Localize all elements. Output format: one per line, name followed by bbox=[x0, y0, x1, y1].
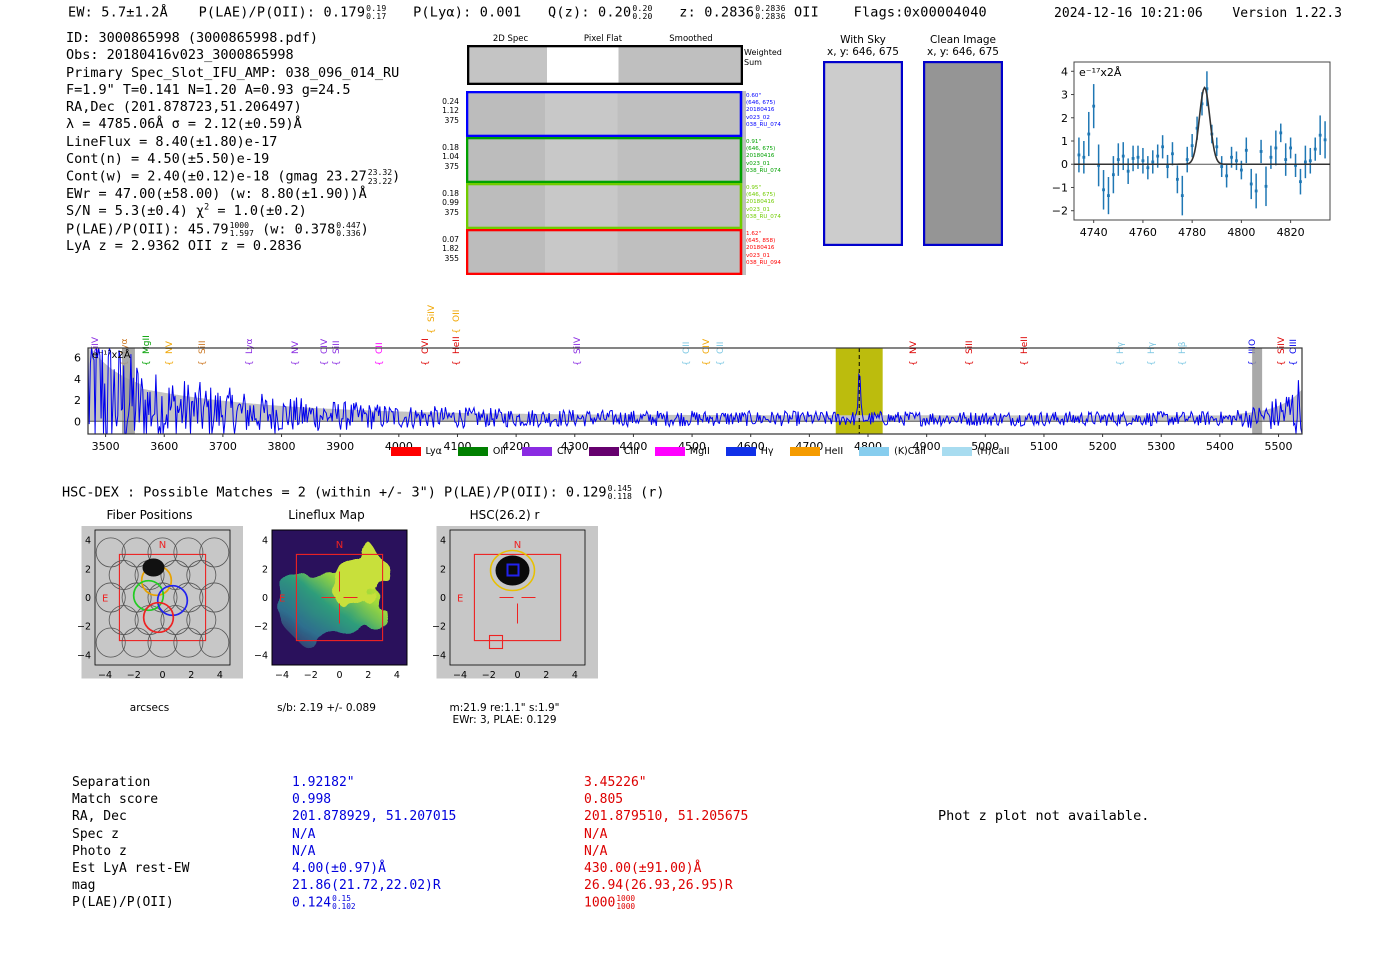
svg-text:2: 2 bbox=[85, 564, 91, 575]
match-row-label: mag bbox=[72, 878, 290, 893]
spec2d-meta-value: 20180416 bbox=[746, 199, 794, 206]
match-value-red: 430.00(±91.00)Å bbox=[584, 861, 748, 876]
spec2d-row-meta-labels: 0.95"(646, 675)20180416v023_01038_RU_074 bbox=[746, 185, 794, 221]
svg-text:N: N bbox=[336, 540, 343, 551]
spec2d-meta-value: v023_01 bbox=[746, 161, 794, 168]
cutout-title: With Sky bbox=[818, 34, 908, 46]
spec2d-meta-value: 20180416 bbox=[746, 245, 794, 252]
header-qz-lo: 0.20 bbox=[632, 12, 652, 20]
header-qz-value: 0.20 bbox=[598, 4, 631, 20]
svg-text:4740: 4740 bbox=[1080, 226, 1108, 239]
match-value-red: 26.94(26.93,26.95)R bbox=[584, 878, 748, 893]
info-cont-n: Cont(n) = 4.50(±5.50)e-19 bbox=[66, 151, 400, 168]
cutout-panel: Clean Imagex, y: 646, 675 bbox=[918, 34, 1008, 246]
legend-item: MgII bbox=[655, 446, 710, 457]
spec2d-meta-value: 0.91" bbox=[746, 139, 794, 146]
svg-text:2: 2 bbox=[1061, 112, 1068, 125]
svg-text:−4: −4 bbox=[453, 670, 467, 681]
match-row-label: Est LyA rest-EW bbox=[72, 861, 290, 876]
image-panel: Lineflux MapNE−4−4−2−2002244s/b: 2.19 +/… bbox=[245, 508, 420, 714]
svg-text:4: 4 bbox=[262, 536, 268, 547]
svg-text:4: 4 bbox=[572, 670, 578, 681]
cutout-title: Clean Image bbox=[918, 34, 1008, 46]
svg-text:6: 6 bbox=[74, 352, 81, 365]
match-value-blue: 0.998 bbox=[292, 792, 582, 807]
hscdex-title: HSC-DEX : Possible Matches = 2 (within +… bbox=[62, 484, 664, 501]
svg-text:E: E bbox=[279, 594, 285, 605]
match-row-label: RA, Dec bbox=[72, 809, 290, 824]
spec2d-meta-value: v023_01 bbox=[746, 253, 794, 260]
header-plya-label: P(Lyα): bbox=[413, 4, 471, 20]
svg-text:−2: −2 bbox=[304, 670, 318, 681]
match-row-label: Photo z bbox=[72, 844, 290, 859]
svg-text:−4: −4 bbox=[432, 650, 446, 661]
legend-swatch bbox=[859, 447, 889, 456]
emission-line-legend: LyαOIICIVCIIIMgIIHγHeII(K)CaII(H)CaII bbox=[0, 446, 1400, 457]
header-qz-label: Q(z): bbox=[548, 4, 590, 20]
info-obs: Obs: 20180416v023_3000865998 bbox=[66, 47, 400, 64]
spec2d-left-value: 0.18 bbox=[425, 189, 459, 198]
cutout-image bbox=[923, 61, 1003, 246]
svg-text:4800: 4800 bbox=[1227, 226, 1255, 239]
svg-text:−2: −2 bbox=[1052, 205, 1068, 218]
svg-text:−4: −4 bbox=[254, 650, 268, 661]
table-row: Photo zN/AN/A bbox=[72, 844, 748, 859]
spec2d-left-value: 0.24 bbox=[425, 97, 459, 106]
match-value-red: 0.805 bbox=[584, 792, 748, 807]
svg-text:4: 4 bbox=[85, 536, 91, 547]
svg-text:1: 1 bbox=[1061, 135, 1068, 148]
legend-item: OII bbox=[458, 446, 506, 457]
svg-text:3: 3 bbox=[1061, 89, 1068, 102]
spec2d-meta-value: (646, 675) bbox=[746, 192, 794, 199]
line-zoom-svg: −2−10123447404760478048004820e⁻¹⁷x2Å bbox=[1032, 48, 1342, 260]
table-row: RA, Dec201.878929, 51.207015201.879510, … bbox=[72, 809, 748, 824]
match-plae-blue: 0.1240.150.102 bbox=[292, 895, 582, 911]
header-summary-line: EW: 5.7±1.2Å P(LAE)/P(OII): 0.1790.190.1… bbox=[68, 4, 987, 21]
match-row-label: Match score bbox=[72, 792, 290, 807]
spec2d-row-left-labels: 0.181.04375 bbox=[425, 143, 459, 171]
spec2d-meta-value: 20180416 bbox=[746, 153, 794, 160]
svg-text:0: 0 bbox=[74, 415, 81, 428]
spec2d-left-value: 0.18 bbox=[425, 143, 459, 152]
spec2d-left-value: 1.12 bbox=[425, 106, 459, 115]
match-value-blue: N/A bbox=[292, 827, 582, 842]
info-id: ID: 3000865998 (3000865998.pdf) bbox=[66, 30, 400, 47]
match-value-red: 3.45226" bbox=[584, 775, 748, 790]
match-row-label: P(LAE)/P(OII) bbox=[72, 895, 290, 911]
header-ew: EW: 5.7±1.2Å bbox=[68, 4, 168, 20]
info-sn-chi2: S/N = 5.3(±0.4) χ2 = 1.0(±0.2) bbox=[66, 203, 400, 220]
image-panel: HSC(26.2) rNE−4−4−2−2002244m:21.9 re:1.1… bbox=[423, 508, 598, 726]
legend-item: CIV bbox=[522, 446, 573, 457]
svg-text:−2: −2 bbox=[77, 622, 91, 633]
image-panel-caption: arcsecs bbox=[68, 702, 231, 714]
match-value-blue: N/A bbox=[292, 844, 582, 859]
spec2d-col-title-pixelflat: Pixel Flat bbox=[558, 34, 648, 44]
svg-text:2: 2 bbox=[188, 670, 194, 681]
match-value-red: N/A bbox=[584, 844, 748, 859]
svg-text:2: 2 bbox=[74, 394, 81, 407]
spec2d-fiber-strip bbox=[466, 183, 746, 229]
cutout-image bbox=[823, 61, 903, 246]
spec2d-row-meta-labels: 0.60"(646, 675)20180416v023_02038_RU_074 bbox=[746, 93, 794, 129]
image-panel-title: Fiber Positions bbox=[68, 508, 231, 522]
info-params: F=1.9" T=0.141 N=1.20 A=0.93 g=24.5 bbox=[66, 82, 400, 99]
spec2d-meta-value: (645, 858) bbox=[746, 238, 794, 245]
svg-text:0: 0 bbox=[514, 670, 520, 681]
spec2d-col-title-2dspec: 2D Spec bbox=[463, 34, 558, 44]
svg-text:0: 0 bbox=[159, 670, 165, 681]
svg-text:0: 0 bbox=[336, 670, 342, 681]
legend-item: CIII bbox=[589, 446, 639, 457]
svg-text:0: 0 bbox=[85, 593, 91, 604]
svg-text:4820: 4820 bbox=[1277, 226, 1305, 239]
spec2d-left-value: 1.82 bbox=[425, 244, 459, 253]
image-panel-canvas: NE−4−4−2−2002244 bbox=[245, 526, 420, 701]
info-lineflux: LineFlux = 8.40(±1.80)e-17 bbox=[66, 134, 400, 151]
match-row-label: Separation bbox=[72, 775, 290, 790]
spec2d-meta-value: 038_RU_094 bbox=[746, 260, 794, 267]
info-plae-poii: P(LAE)/P(OII): 45.7910001.597 (w: 0.3780… bbox=[66, 221, 400, 239]
table-row: Match score0.9980.805 bbox=[72, 792, 748, 807]
svg-text:0: 0 bbox=[1061, 158, 1068, 171]
legend-label: Lyα bbox=[426, 446, 442, 457]
legend-item: (H)CaII bbox=[942, 446, 1010, 457]
version: Version 1.22.3 bbox=[1232, 6, 1342, 21]
header-plae-value: 0.179 bbox=[324, 4, 366, 20]
header-z-type: OII bbox=[794, 4, 819, 20]
spec2d-fiber-strip bbox=[466, 91, 746, 137]
svg-text:4760: 4760 bbox=[1129, 226, 1157, 239]
image-panel-title: Lineflux Map bbox=[245, 508, 408, 522]
svg-text:−2: −2 bbox=[482, 670, 496, 681]
photz-note: Phot z plot not available. bbox=[938, 808, 1149, 824]
match-value-blue: 1.92182" bbox=[292, 775, 582, 790]
match-plae-red: 100010001000 bbox=[584, 895, 748, 911]
legend-swatch bbox=[790, 447, 820, 456]
legend-label: CIII bbox=[624, 446, 639, 457]
spec2d-col-title-smoothed: Smoothed bbox=[646, 34, 736, 44]
svg-text:4: 4 bbox=[440, 536, 446, 547]
legend-label: Hγ bbox=[761, 446, 774, 457]
legend-swatch bbox=[726, 447, 756, 456]
spec2d-row-left-labels: 0.180.99375 bbox=[425, 189, 459, 217]
match-row-label: Spec z bbox=[72, 827, 290, 842]
spec2d-left-value: 355 bbox=[425, 254, 459, 263]
legend-label: MgII bbox=[690, 446, 710, 457]
spec2d-meta-value: (646, 675) bbox=[746, 146, 794, 153]
cutout-subtitle: x, y: 646, 675 bbox=[818, 46, 908, 58]
legend-label: OII bbox=[493, 446, 506, 457]
matches-table: Separation1.92182"3.45226"Match score0.9… bbox=[70, 773, 750, 913]
spec2d-meta-value: v023_01 bbox=[746, 207, 794, 214]
spec2d-meta-value: 20180416 bbox=[746, 107, 794, 114]
svg-text:−1: −1 bbox=[1052, 181, 1068, 194]
legend-item: Lyα bbox=[391, 446, 442, 457]
spec2d-meta-value: 038_RU_074 bbox=[746, 168, 794, 175]
svg-text:2: 2 bbox=[262, 564, 268, 575]
source-info-block: ID: 3000865998 (3000865998.pdf) Obs: 201… bbox=[66, 30, 400, 255]
full-spectrum-chart: SiIV{Lyα{MgII{NV{SiII{Lyα{NV{CIV{SiII{CI… bbox=[0, 278, 1400, 468]
legend-item: HeII bbox=[790, 446, 844, 457]
spec2d-left-value: 375 bbox=[425, 116, 459, 125]
spec2d-left-value: 0.99 bbox=[425, 198, 459, 207]
table-row: Separation1.92182"3.45226" bbox=[72, 775, 748, 790]
svg-text:e⁻¹⁷x2Å: e⁻¹⁷x2Å bbox=[92, 348, 131, 361]
svg-text:N: N bbox=[514, 540, 521, 551]
svg-text:−2: −2 bbox=[254, 622, 268, 633]
image-panel-caption: s/b: 2.19 +/- 0.089 bbox=[245, 702, 408, 714]
image-panel-group: Fiber PositionsNE−4−4−2−2002244arcsecsLi… bbox=[55, 508, 675, 723]
header-plya-value: 0.001 bbox=[480, 4, 522, 20]
svg-text:−4: −4 bbox=[77, 650, 91, 661]
spec2d-row-meta-labels: 0.91"(646, 675)20180416v023_01038_RU_074 bbox=[746, 139, 794, 175]
spec2d-fiber-strip bbox=[466, 137, 746, 183]
svg-text:0: 0 bbox=[262, 593, 268, 604]
legend-swatch bbox=[391, 447, 421, 456]
match-value-blue: 4.00(±0.97)Å bbox=[292, 861, 582, 876]
spec2d-weighted-sum-label: Weighted Sum bbox=[744, 48, 782, 67]
full-spectrum-svg: 0246350036003700380039004000410042004300… bbox=[0, 278, 1400, 468]
svg-text:4: 4 bbox=[74, 373, 81, 386]
svg-text:E: E bbox=[457, 594, 463, 605]
image-panel-caption-2: EWr: 3, PLAE: 0.129 bbox=[423, 714, 586, 726]
legend-swatch bbox=[458, 447, 488, 456]
svg-text:−2: −2 bbox=[432, 622, 446, 633]
spec2d-meta-value: 038_RU_074 bbox=[746, 122, 794, 129]
header-z-lo: 0.2836 bbox=[755, 12, 785, 20]
svg-text:−4: −4 bbox=[275, 670, 289, 681]
svg-text:4: 4 bbox=[217, 670, 223, 681]
spec2d-row-left-labels: 0.241.12375 bbox=[425, 97, 459, 125]
info-redshifts: LyA z = 2.9362 OII z = 0.2836 bbox=[66, 238, 400, 255]
match-value-red: 201.879510, 51.205675 bbox=[584, 809, 748, 824]
legend-swatch bbox=[655, 447, 685, 456]
svg-text:4: 4 bbox=[394, 670, 400, 681]
spec2d-meta-value: 038_RU_074 bbox=[746, 214, 794, 221]
legend-swatch bbox=[522, 447, 552, 456]
timestamp: 2024-12-16 10:21:06 bbox=[1054, 6, 1203, 21]
info-primary-spec-slot: Primary Spec_Slot_IFU_AMP: 038_096_014_R… bbox=[66, 65, 400, 82]
spec2d-meta-value: (646, 675) bbox=[746, 100, 794, 107]
line-zoom-chart: −2−10123447404760478048004820e⁻¹⁷x2Å bbox=[1032, 48, 1342, 264]
svg-text:N: N bbox=[159, 540, 166, 551]
header-z-value: 0.2836 bbox=[704, 4, 754, 20]
svg-text:−2: −2 bbox=[127, 670, 141, 681]
match-value-blue: 201.878929, 51.207015 bbox=[292, 809, 582, 824]
svg-text:2: 2 bbox=[440, 564, 446, 575]
svg-text:e⁻¹⁷x2Å: e⁻¹⁷x2Å bbox=[1079, 66, 1122, 79]
spec2d-meta-value: 1.62" bbox=[746, 231, 794, 238]
table-row: Spec zN/AN/A bbox=[72, 827, 748, 842]
table-row: Est LyA rest-EW4.00(±0.97)Å430.00(±91.00… bbox=[72, 861, 748, 876]
svg-text:4: 4 bbox=[1061, 65, 1068, 78]
cutout-panel: With Skyx, y: 646, 675 bbox=[818, 34, 908, 246]
svg-text:2: 2 bbox=[543, 670, 549, 681]
cutout-subtitle: x, y: 646, 675 bbox=[918, 46, 1008, 58]
spec2d-left-value: 375 bbox=[425, 162, 459, 171]
table-row: mag21.86(21.72,22.02)R26.94(26.93,26.95)… bbox=[72, 878, 748, 893]
legend-item: (K)CaII bbox=[859, 446, 926, 457]
info-cont-w: Cont(w) = 2.40(±0.12)e-18 (gmag 23.2723.… bbox=[66, 168, 400, 186]
spec2d-left-value: 0.07 bbox=[425, 235, 459, 244]
info-ewr: EWr = 47.00(±58.00) (w: 8.80(±1.90))Å bbox=[66, 186, 400, 203]
header-plae-lo: 0.17 bbox=[366, 12, 386, 20]
svg-text:2: 2 bbox=[365, 670, 371, 681]
image-panel-canvas: NE−4−4−2−2002244 bbox=[423, 526, 598, 701]
legend-swatch bbox=[942, 447, 972, 456]
legend-label: (K)CaII bbox=[894, 446, 926, 457]
match-value-red: N/A bbox=[584, 827, 748, 842]
spec2d-left-value: 1.04 bbox=[425, 152, 459, 161]
image-panel-caption: m:21.9 re:1.1" s:1.9" bbox=[423, 702, 586, 714]
header-z-label: z: bbox=[679, 4, 696, 20]
spec2d-left-value: 375 bbox=[425, 208, 459, 217]
svg-text:E: E bbox=[102, 594, 108, 605]
info-radec: RA,Dec (201.878723,51.206497) bbox=[66, 99, 400, 116]
legend-swatch bbox=[589, 447, 619, 456]
legend-label: HeII bbox=[825, 446, 844, 457]
header-flags: Flags:0x00004040 bbox=[854, 4, 987, 20]
spec2d-meta-value: 0.95" bbox=[746, 185, 794, 192]
svg-text:4780: 4780 bbox=[1178, 226, 1206, 239]
image-panel-canvas: NE−4−4−2−2002244 bbox=[68, 526, 243, 701]
spec2d-meta-value: v023_02 bbox=[746, 115, 794, 122]
image-panel-title: HSC(26.2) r bbox=[423, 508, 586, 522]
header-plae-label: P(LAE)/P(OII): bbox=[199, 4, 316, 20]
table-row-plae: P(LAE)/P(OII)0.1240.150.102100010001000 bbox=[72, 895, 748, 911]
match-value-blue: 21.86(21.72,22.02)R bbox=[292, 878, 582, 893]
legend-item: Hγ bbox=[726, 446, 774, 457]
spec2d-row-left-labels: 0.071.82355 bbox=[425, 235, 459, 263]
spec2d-panel-group: 2D Spec Pixel Flat Smoothed Weighted Sum… bbox=[463, 34, 788, 262]
legend-label: CIV bbox=[557, 446, 573, 457]
spec2d-fiber-strip bbox=[466, 229, 746, 275]
timestamp-version: 2024-12-16 10:21:06 Version 1.22.3 bbox=[1054, 6, 1342, 21]
svg-text:0: 0 bbox=[440, 593, 446, 604]
image-panel: Fiber PositionsNE−4−4−2−2002244arcsecs bbox=[68, 508, 243, 714]
spec2d-meta-value: 0.60" bbox=[746, 93, 794, 100]
svg-text:−4: −4 bbox=[98, 670, 112, 681]
legend-label: (H)CaII bbox=[977, 446, 1010, 457]
spec2d-weighted-sum-strip bbox=[467, 45, 743, 85]
spec2d-row-meta-labels: 1.62"(645, 858)20180416v023_01038_RU_094 bbox=[746, 231, 794, 267]
info-lambda-sigma: λ = 4785.06Å σ = 2.12(±0.59)Å bbox=[66, 116, 400, 133]
